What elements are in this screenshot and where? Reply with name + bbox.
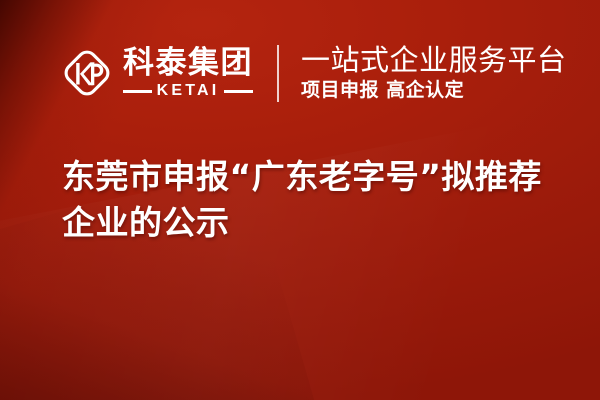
tagline-primary: 一站式企业服务平台 [301,44,567,76]
page-title-line-2: 企业的公示 [62,200,562,246]
logo-english-row: KETAI [123,83,253,99]
logo-dash-right [224,90,253,93]
ketai-logo[interactable]: 科泰集团 KETAI [60,46,253,100]
logo-dash-left [123,90,152,93]
promo-banner: 科泰集团 KETAI 一站式企业服务平台 项目申报 高企认定 东莞市申报“广东老… [0,0,600,400]
tagline-secondary: 项目申报 高企认定 [301,78,567,102]
page-title: 东莞市申报“广东老字号”拟推荐 企业的公示 [62,154,562,246]
banner-header: 科泰集团 KETAI 一站式企业服务平台 项目申报 高企认定 [60,44,567,102]
tagline-block: 一站式企业服务平台 项目申报 高企认定 [301,44,567,102]
logo-english-name: KETAI [157,83,220,99]
ketai-wordmark: 科泰集团 KETAI [123,47,253,99]
page-title-line-1: 东莞市申报“广东老字号”拟推荐 [62,154,562,200]
vertical-divider [277,45,279,102]
logo-chinese-name: 科泰集团 [123,47,253,80]
ketai-kp-diamond-icon [60,46,114,100]
